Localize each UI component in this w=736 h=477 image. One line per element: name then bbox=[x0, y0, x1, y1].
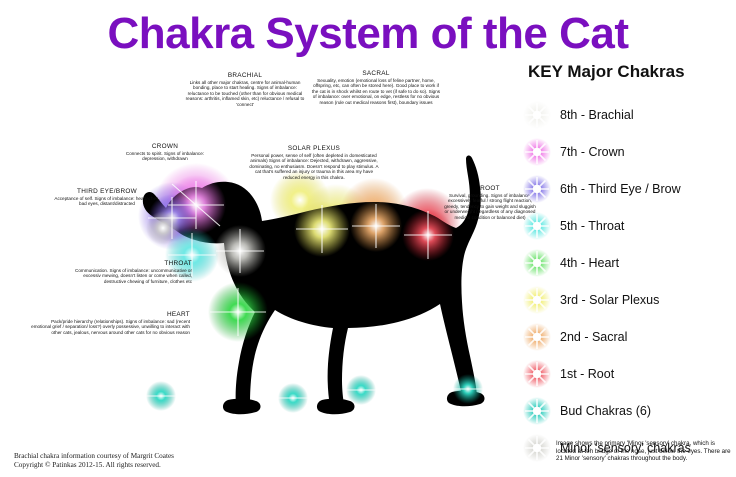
bud-chakra-glow-4 bbox=[453, 374, 483, 404]
key-row: 6th - Third Eye / Brow bbox=[522, 170, 736, 207]
cat-paw-hind bbox=[447, 391, 485, 407]
annotation-crown-body: Connects to spirit. Signs of imbalance: … bbox=[118, 151, 212, 162]
key-row-label: Bud Chakras (6) bbox=[560, 404, 651, 418]
heart-chakra-glow bbox=[208, 282, 268, 342]
annotation-solar-plexus-heading: SOLAR PLEXUS bbox=[247, 145, 381, 153]
annotation-brachial-heading: BRACHIAL bbox=[183, 72, 307, 80]
annotation-brachial-body: Links all other major chakras, centre fo… bbox=[183, 80, 307, 107]
annotation-solar-plexus-body: Personal power, sense of self (often dep… bbox=[247, 153, 381, 180]
key-row-label: 5th - Throat bbox=[560, 219, 624, 233]
annotation-throat: THROAT Communication. Signs of imbalance… bbox=[60, 260, 192, 284]
copyright-block: Brachial chakra information courtesy of … bbox=[14, 452, 274, 470]
chakra-glow-icon bbox=[522, 285, 552, 315]
annotation-sacral-body: Sexuality, emotion (emotional loss of fe… bbox=[310, 78, 442, 105]
solar-plexus-chakra-glow bbox=[294, 201, 350, 257]
key-row: 5th - Throat bbox=[522, 207, 736, 244]
bud-chakra-glow-1 bbox=[146, 381, 176, 411]
chakra-glow-icon bbox=[522, 322, 552, 352]
annotation-heart: HEART Pack/pride hierarchy (relationship… bbox=[30, 311, 190, 335]
key-row-label: 3rd - Solar Plexus bbox=[560, 293, 659, 307]
key-row: 2nd - Sacral bbox=[522, 318, 736, 355]
chakra-glow-icon bbox=[522, 100, 552, 130]
annotation-sacral: SACRAL Sexuality, emotion (emotional los… bbox=[310, 70, 442, 105]
minor-sensory-chakra-glow bbox=[146, 211, 180, 245]
annotation-throat-body: Communication. Signs of imbalance: uncom… bbox=[60, 268, 192, 284]
bud-chakra-glow-2 bbox=[278, 383, 308, 413]
key-row: Bud Chakras (6) bbox=[522, 392, 736, 429]
brachial-chakra-glow bbox=[214, 225, 266, 277]
annotation-crown: CROWN Connects to spirit. Signs of imbal… bbox=[118, 143, 212, 162]
annotation-sacral-heading: SACRAL bbox=[310, 70, 442, 78]
cat-body-shape bbox=[143, 155, 481, 414]
chakra-glows-front bbox=[146, 175, 483, 413]
key-row-label: 1st - Root bbox=[560, 367, 614, 381]
copyright-line-1: Brachial chakra information courtesy of … bbox=[14, 452, 274, 461]
key-row-label: 8th - Brachial bbox=[560, 108, 634, 122]
key-row-label: 7th - Crown bbox=[560, 145, 625, 159]
annotation-solar-plexus: SOLAR PLEXUS Personal power, sense of se… bbox=[247, 145, 381, 180]
key-row: 1st - Root bbox=[522, 355, 736, 392]
chakra-glow-icon bbox=[522, 396, 552, 426]
chakra-star-streaks bbox=[146, 181, 483, 398]
chakra-glow-icon bbox=[522, 174, 552, 204]
annotation-third-eye: THIRD EYE/BROW Acceptance of self. Signs… bbox=[52, 188, 162, 207]
bud-chakra-glow-3 bbox=[346, 375, 376, 405]
key-legend-list: 8th - Brachial7th - Crown6th - Third Eye… bbox=[522, 96, 736, 466]
annotation-third-eye-body: Acceptance of self. Signs of imbalance: … bbox=[52, 196, 162, 207]
key-note: Image shows the primary 'Minor 'sensory'… bbox=[556, 440, 734, 463]
sacral-chakra-glow bbox=[350, 200, 402, 252]
page-title: Chakra System of the Cat bbox=[0, 8, 736, 60]
chakra-glow-icon bbox=[522, 137, 552, 167]
chakra-glow-icon bbox=[522, 433, 552, 463]
annotation-heart-heading: HEART bbox=[30, 311, 190, 319]
key-heading: KEY Major Chakras bbox=[528, 62, 736, 82]
annotation-third-eye-heading: THIRD EYE/BROW bbox=[52, 188, 162, 196]
annotation-crown-heading: CROWN bbox=[118, 143, 212, 151]
cat-paw-front-2 bbox=[317, 399, 355, 415]
chakra-glow-icon bbox=[522, 211, 552, 241]
annotation-brachial: BRACHIAL Links all other major chakras, … bbox=[183, 72, 307, 107]
chakra-glow-icon bbox=[522, 359, 552, 389]
key-row: 8th - Brachial bbox=[522, 96, 736, 133]
key-row: 3rd - Solar Plexus bbox=[522, 281, 736, 318]
key-row: 4th - Heart bbox=[522, 244, 736, 281]
chakra-glow-icon bbox=[522, 248, 552, 278]
annotation-heart-body: Pack/pride hierarchy (relationships). Si… bbox=[30, 319, 190, 335]
copyright-line-2: Copyright © Patinkas 2012-15. All rights… bbox=[14, 461, 274, 470]
annotation-throat-heading: THROAT bbox=[60, 260, 192, 268]
key-row: 7th - Crown bbox=[522, 133, 736, 170]
crown-chakra-glow bbox=[166, 175, 226, 235]
key-row-label: 4th - Heart bbox=[560, 256, 619, 270]
key-row-label: 2nd - Sacral bbox=[560, 330, 627, 344]
cat-paw-front bbox=[223, 399, 261, 415]
chakra-poster: Chakra System of the Cat bbox=[0, 0, 736, 477]
key-row-label: 6th - Third Eye / Brow bbox=[560, 182, 681, 196]
